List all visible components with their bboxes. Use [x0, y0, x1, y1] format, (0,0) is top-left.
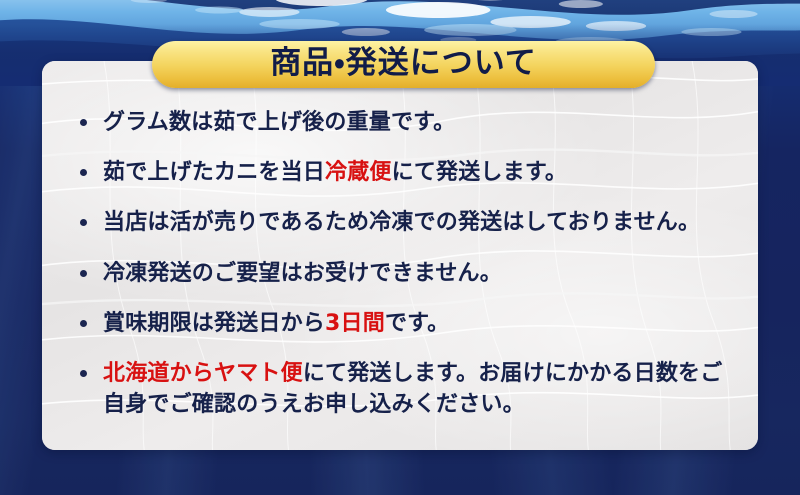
plain-text: グラム数は茹で上げ後の重量です。 — [103, 110, 455, 135]
note-no-frozen-request: 冷凍発送のご要望はお受けできません。 — [103, 258, 502, 289]
bullet-dot-icon — [80, 169, 87, 176]
bullet-dot-icon — [80, 219, 87, 226]
list-item: グラム数は茹で上げ後の重量です。 — [80, 107, 738, 138]
highlighted-text: 冷蔵便 — [325, 160, 392, 185]
page-title: 商品・発送について — [270, 48, 537, 79]
note-chilled-shipping: 茹で上げたカニを当日冷蔵便にて発送します。 — [103, 157, 567, 188]
list-item: 茹で上げたカニを当日冷蔵便にて発送します。 — [80, 157, 738, 188]
list-item: 北海道からヤマト便にて発送します。お届けにかかる日数をご自身でご確認のうえお申し… — [80, 358, 738, 420]
note-weight: グラム数は茹で上げ後の重量です。 — [103, 107, 455, 138]
list-item: 賞味期限は発送日から3日間です。 — [80, 308, 738, 339]
plain-text: 冷凍発送のご要望はお受けできません。 — [103, 261, 502, 286]
list-item: 当店は活が売りであるため冷凍での発送はしておりません。 — [80, 207, 738, 238]
title-banner-pill: 商品・発送について — [152, 41, 655, 88]
plain-text: 賞味期限は発送日から — [103, 311, 325, 336]
notes-list: グラム数は茹で上げ後の重量です。茹で上げたカニを当日冷蔵便にて発送します。当店は… — [80, 107, 738, 421]
bullet-dot-icon — [80, 119, 87, 126]
note-best-before: 賞味期限は発送日から3日間です。 — [103, 308, 449, 339]
list-item: 冷凍発送のご要望はお受けできません。 — [80, 258, 738, 289]
bullet-dot-icon — [80, 320, 87, 327]
plain-text: 茹で上げたカニを当日 — [103, 160, 325, 185]
plain-text: にて発送します。 — [392, 160, 567, 185]
note-carrier: 北海道からヤマト便にて発送します。お届けにかかる日数をご自身でご確認のうえお申し… — [103, 358, 738, 420]
plain-text: 当店は活が売りであるため冷凍での発送はしておりません。 — [103, 210, 700, 235]
highlighted-text: 北海道からヤマト便 — [103, 361, 303, 386]
plain-text: です。 — [385, 311, 449, 336]
bullet-dot-icon — [80, 370, 87, 377]
bullet-dot-icon — [80, 270, 87, 277]
highlighted-text: 3日間 — [325, 311, 385, 336]
note-no-frozen: 当店は活が売りであるため冷凍での発送はしておりません。 — [103, 207, 700, 238]
promo-banner-card: グラム数は茹で上げ後の重量です。茹で上げたカニを当日冷蔵便にて発送します。当店は… — [0, 0, 800, 495]
content-card: グラム数は茹で上げ後の重量です。茹で上げたカニを当日冷蔵便にて発送します。当店は… — [42, 61, 758, 450]
